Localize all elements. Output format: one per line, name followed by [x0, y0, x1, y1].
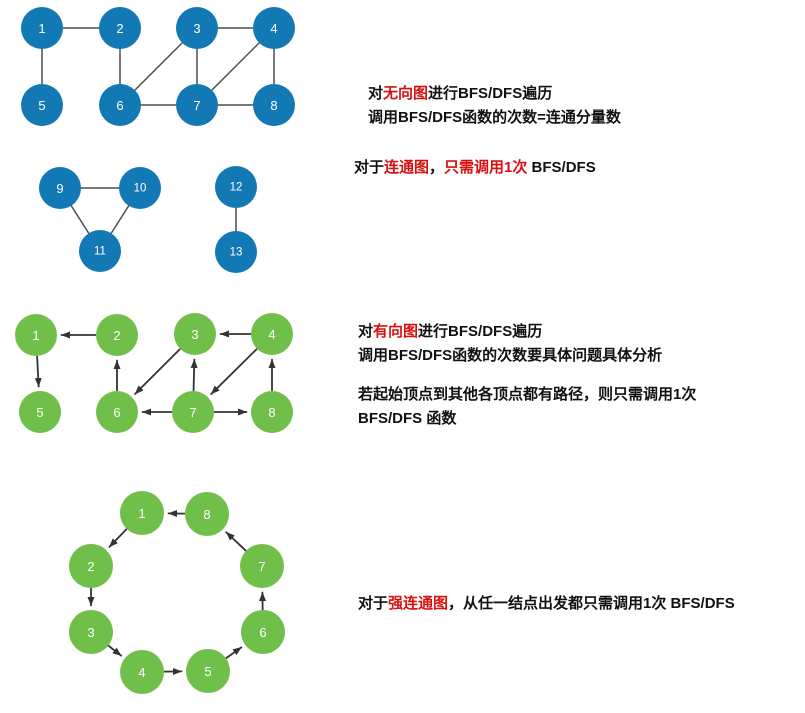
graph-edge [135, 349, 180, 394]
annotation-directed-keyword: 有向图 [373, 323, 418, 340]
annotation-strongly-connected: 对于强连通图，从任一结点出发都只需调用1次 BFS/DFS [358, 592, 735, 616]
graph-node[interactable]: 7 [172, 391, 214, 433]
annotation-directed-line1-b: 进行BFS/DFS遍历 [418, 323, 542, 340]
node-circle[interactable] [240, 544, 284, 588]
annotation-undirected-line1: 对无向图进行BFS/DFS遍历 [368, 82, 621, 106]
annotation-connected-line1: 对于连通图，只需调用1次 BFS/DFS [354, 156, 596, 180]
node-circle[interactable] [176, 7, 218, 49]
node-circle[interactable] [21, 84, 63, 126]
annotation-undirected-line1-a: 对 [368, 85, 383, 102]
node-circle[interactable] [172, 391, 214, 433]
graph-node[interactable]: 2 [69, 544, 113, 588]
annotation-undirected-line1-b: 进行BFS/DFS遍历 [428, 85, 552, 102]
node-circle[interactable] [96, 391, 138, 433]
graph-edge [194, 359, 195, 390]
annotation-strong-keyword: 强连通图 [388, 595, 448, 612]
graph-node[interactable]: 10 [119, 167, 161, 209]
annotation-directed-line1-a: 对 [358, 323, 373, 340]
node-circle[interactable] [96, 314, 138, 356]
graph-node[interactable]: 3 [174, 313, 216, 355]
graph-edge [71, 206, 88, 234]
node-circle[interactable] [39, 167, 81, 209]
graph-node[interactable]: 4 [120, 650, 164, 694]
graph-node[interactable]: 6 [241, 610, 285, 654]
node-circle[interactable] [99, 84, 141, 126]
node-circle[interactable] [99, 7, 141, 49]
graph-node[interactable]: 3 [69, 610, 113, 654]
annotation-directed-line1: 对有向图进行BFS/DFS遍历 [358, 320, 696, 344]
node-circle[interactable] [241, 610, 285, 654]
graph-edge [226, 647, 241, 658]
graph-node[interactable]: 1 [21, 7, 63, 49]
annotation-directed-line3: 若起始顶点到其他各顶点都有路径，则只需调用1次 [358, 383, 696, 407]
node-circle[interactable] [69, 610, 113, 654]
annotation-connected-count: 只需调用1次 [444, 159, 527, 176]
node-circle[interactable] [19, 391, 61, 433]
annotation-undirected-graph: 对无向图进行BFS/DFS遍历 调用BFS/DFS函数的次数=连通分量数 [368, 82, 621, 131]
annotation-strong-line1: 对于强连通图，从任一结点出发都只需调用1次 BFS/DFS [358, 592, 735, 616]
graph-node[interactable]: 7 [176, 84, 218, 126]
graph-edge [135, 43, 182, 90]
graph-edge [109, 646, 121, 656]
node-circle[interactable] [215, 231, 257, 273]
node-circle[interactable] [69, 544, 113, 588]
annotation-connected-keyword: 连通图 [384, 159, 429, 176]
node-circle[interactable] [253, 84, 295, 126]
annotation-connected-graph: 对于连通图，只需调用1次 BFS/DFS [354, 156, 596, 180]
graph-node[interactable]: 13 [215, 231, 257, 273]
annotation-directed-line4: BFS/DFS 函数 [358, 407, 696, 431]
graph-node[interactable]: 6 [96, 391, 138, 433]
annotation-directed-graph: 对有向图进行BFS/DFS遍历 调用BFS/DFS函数的次数要具体问题具体分析 … [358, 320, 696, 431]
graph-edge [212, 43, 259, 90]
graph-node[interactable]: 8 [253, 84, 295, 126]
node-circle[interactable] [120, 491, 164, 535]
node-circle[interactable] [253, 7, 295, 49]
graph-edge [37, 356, 39, 386]
graph-node[interactable]: 6 [99, 84, 141, 126]
graph-node[interactable]: 4 [253, 7, 295, 49]
graph-node[interactable]: 8 [251, 391, 293, 433]
graph-node[interactable]: 5 [19, 391, 61, 433]
node-circle[interactable] [119, 167, 161, 209]
node-circle[interactable] [15, 314, 57, 356]
node-circle[interactable] [215, 166, 257, 208]
node-circle[interactable] [174, 313, 216, 355]
graph-node[interactable]: 1 [15, 314, 57, 356]
annotation-strong-b: ，从任一结点出发都只需调用1次 BFS/DFS [448, 595, 735, 612]
annotation-strong-a: 对于 [358, 595, 388, 612]
annotation-directed-spacer [358, 369, 696, 383]
node-circle[interactable] [185, 492, 229, 536]
annotation-connected-c: BFS/DFS [527, 159, 595, 176]
diagram-canvas: 123456789101112131234567818273645 对无向图进行… [0, 0, 805, 713]
graph-node[interactable]: 5 [21, 84, 63, 126]
graph-node[interactable]: 1 [120, 491, 164, 535]
node-circle[interactable] [79, 230, 121, 272]
node-circle[interactable] [251, 391, 293, 433]
annotation-undirected-keyword: 无向图 [383, 85, 428, 102]
graph-node[interactable]: 3 [176, 7, 218, 49]
graph-node[interactable]: 7 [240, 544, 284, 588]
annotation-undirected-line2: 调用BFS/DFS函数的次数=连通分量数 [368, 106, 621, 130]
node-circle[interactable] [176, 84, 218, 126]
annotation-directed-line2: 调用BFS/DFS函数的次数要具体问题具体分析 [358, 344, 696, 368]
graph-node[interactable]: 2 [96, 314, 138, 356]
graph-edge [111, 206, 128, 234]
annotation-connected-a: 对于 [354, 159, 384, 176]
node-circle[interactable] [120, 650, 164, 694]
graph-edge [109, 529, 126, 547]
graph-node[interactable]: 8 [185, 492, 229, 536]
node-circle[interactable] [186, 649, 230, 693]
graph-node[interactable]: 2 [99, 7, 141, 49]
graph-edge [226, 532, 245, 550]
graph-node[interactable]: 12 [215, 166, 257, 208]
annotation-connected-b: ， [429, 159, 444, 176]
graph-edge [211, 349, 257, 394]
node-circle[interactable] [21, 7, 63, 49]
nodes-group: 123456789101112131234567818273645 [15, 7, 295, 694]
graph-node[interactable]: 4 [251, 313, 293, 355]
graph-node[interactable]: 5 [186, 649, 230, 693]
node-circle[interactable] [251, 313, 293, 355]
graph-node[interactable]: 11 [79, 230, 121, 272]
graph-node[interactable]: 9 [39, 167, 81, 209]
